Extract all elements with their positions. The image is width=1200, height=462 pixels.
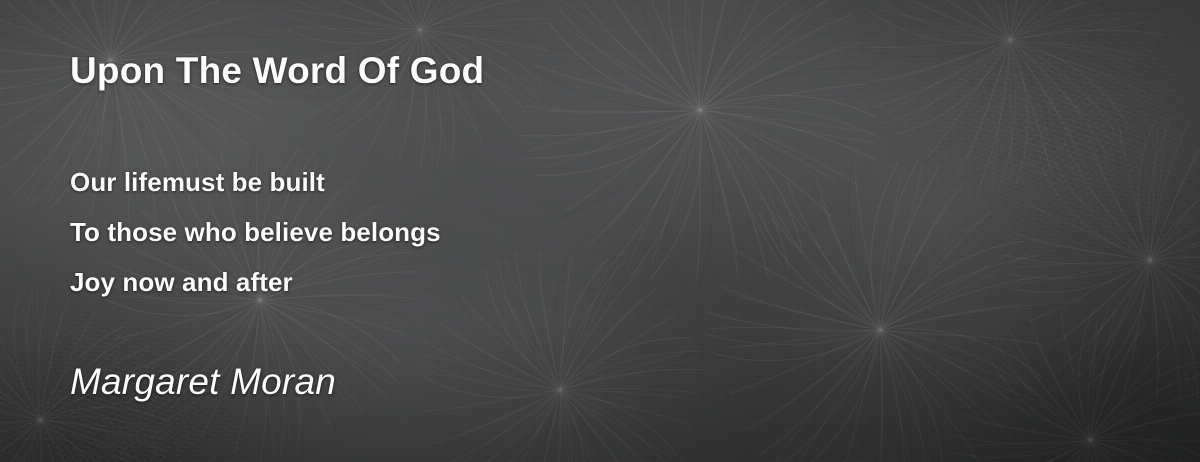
poem-card: Upon The Word Of God Our lifemust be bui… (0, 0, 1200, 462)
poem-body: Our lifemust be built To those who belie… (70, 157, 441, 307)
poem-author: Margaret Moran (70, 361, 336, 403)
poem-line: Joy now and after (70, 257, 441, 307)
poem-content: Upon The Word Of God Our lifemust be bui… (70, 0, 1130, 462)
poem-line: Our lifemust be built (70, 157, 441, 207)
poem-line: To those who believe belongs (70, 207, 441, 257)
poem-title: Upon The Word Of God (70, 50, 484, 93)
